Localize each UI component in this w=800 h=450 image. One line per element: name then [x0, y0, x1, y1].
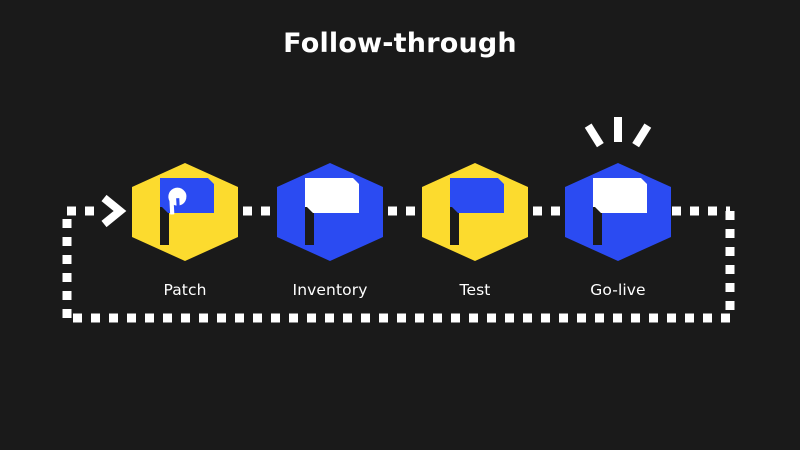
node-test[interactable]: Test — [422, 163, 528, 299]
sparkle-line-center — [614, 117, 622, 142]
sparkle-line-left — [585, 124, 604, 148]
node-label-test: Test — [459, 281, 491, 299]
flag-banner-inventory — [305, 178, 359, 213]
flag-banner-patch — [160, 178, 214, 213]
flag-banner-go-live — [593, 178, 647, 213]
node-patch[interactable]: Patch — [132, 163, 238, 299]
flag-banner-test — [450, 178, 504, 213]
node-label-patch: Patch — [163, 281, 206, 299]
sparkle-icon — [585, 117, 651, 147]
sparkle-line-right — [632, 124, 651, 148]
arrow-head-icon — [104, 198, 120, 224]
node-label-inventory: Inventory — [293, 281, 368, 299]
process-flow-diagram: Patch Inventory Test Go — [0, 0, 800, 450]
node-go-live[interactable]: Go-live — [565, 117, 671, 299]
diagram-canvas: Follow-through — [0, 0, 800, 450]
node-label-go-live: Go-live — [590, 281, 645, 299]
node-inventory[interactable]: Inventory — [277, 163, 383, 299]
